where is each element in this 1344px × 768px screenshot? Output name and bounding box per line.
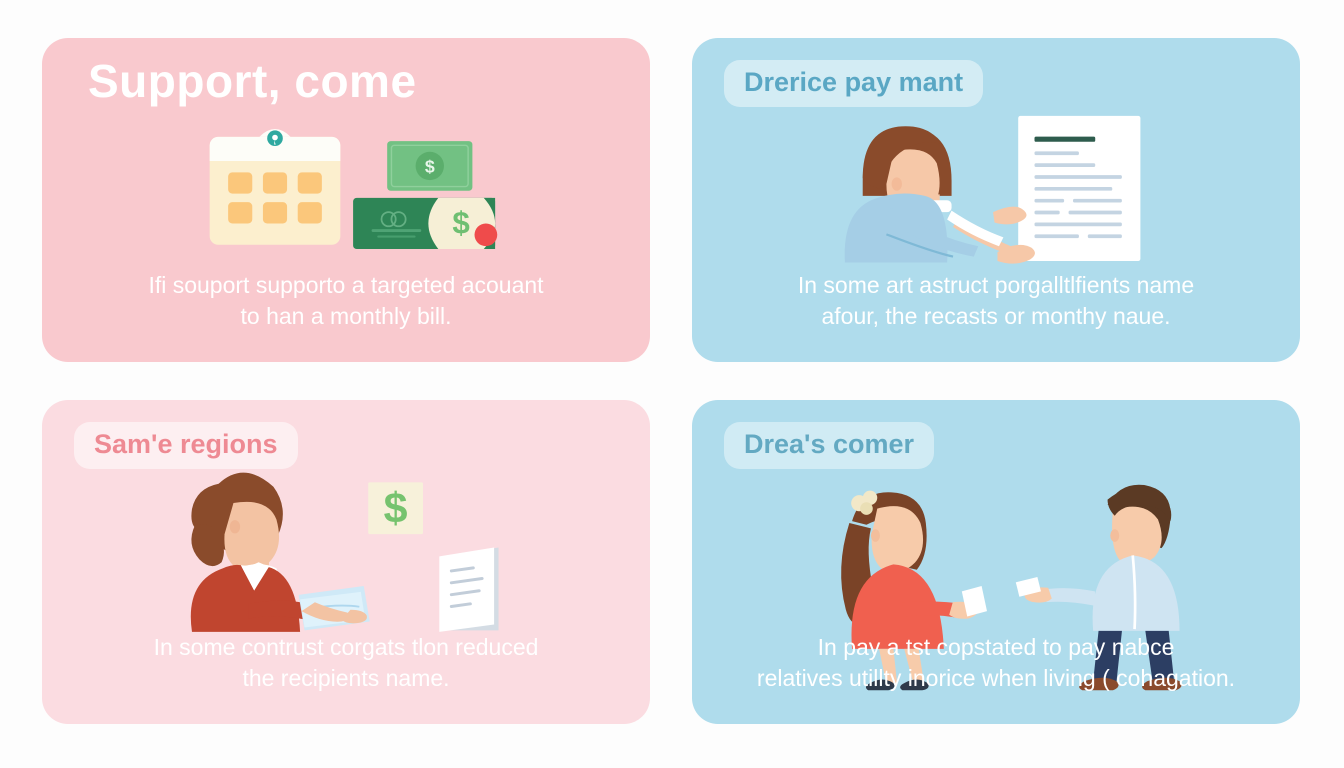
illustration-woman-pointing-at-document xyxy=(692,107,1300,270)
card-caption: In some contrust corgats tlon reduced th… xyxy=(42,632,650,724)
dollar-card-icon: $ xyxy=(368,482,423,534)
card-title: Drea's comer xyxy=(724,422,934,469)
person-icon xyxy=(191,473,370,632)
svg-text:$: $ xyxy=(452,205,469,240)
illustration-calendar-and-banknotes: $ $ xyxy=(42,107,650,270)
card-title: Support, come xyxy=(42,38,650,107)
card-title: Drerice pay mant xyxy=(724,60,983,107)
card-same-regions[interactable]: Sam'e regions $ xyxy=(42,400,650,724)
document-icon xyxy=(1018,116,1140,261)
banknote-icon: $ xyxy=(387,141,472,191)
card-board: Support, come xyxy=(0,0,1344,768)
card-drerice-pay-mant[interactable]: Drerice pay mant xyxy=(692,38,1300,362)
card-caption: In some art astruct porgalltlfients name… xyxy=(692,270,1300,362)
document-icon xyxy=(439,547,498,631)
calendar-icon xyxy=(210,129,341,245)
illustration-woman-holding-paper: $ xyxy=(42,469,650,632)
person-icon xyxy=(845,126,1035,263)
card-title: Sam'e regions xyxy=(74,422,298,469)
card-support-come[interactable]: Support, come xyxy=(42,38,650,362)
banknote-icon: $ xyxy=(353,197,497,248)
svg-text:$: $ xyxy=(384,484,408,532)
card-caption: Ifi souport supporto a targeted acouant … xyxy=(42,270,650,362)
svg-text:$: $ xyxy=(425,156,435,176)
card-caption: In pay a tst copstated to pay nabce rela… xyxy=(692,632,1300,724)
card-dreas-comer[interactable]: Drea's comer xyxy=(692,400,1300,724)
